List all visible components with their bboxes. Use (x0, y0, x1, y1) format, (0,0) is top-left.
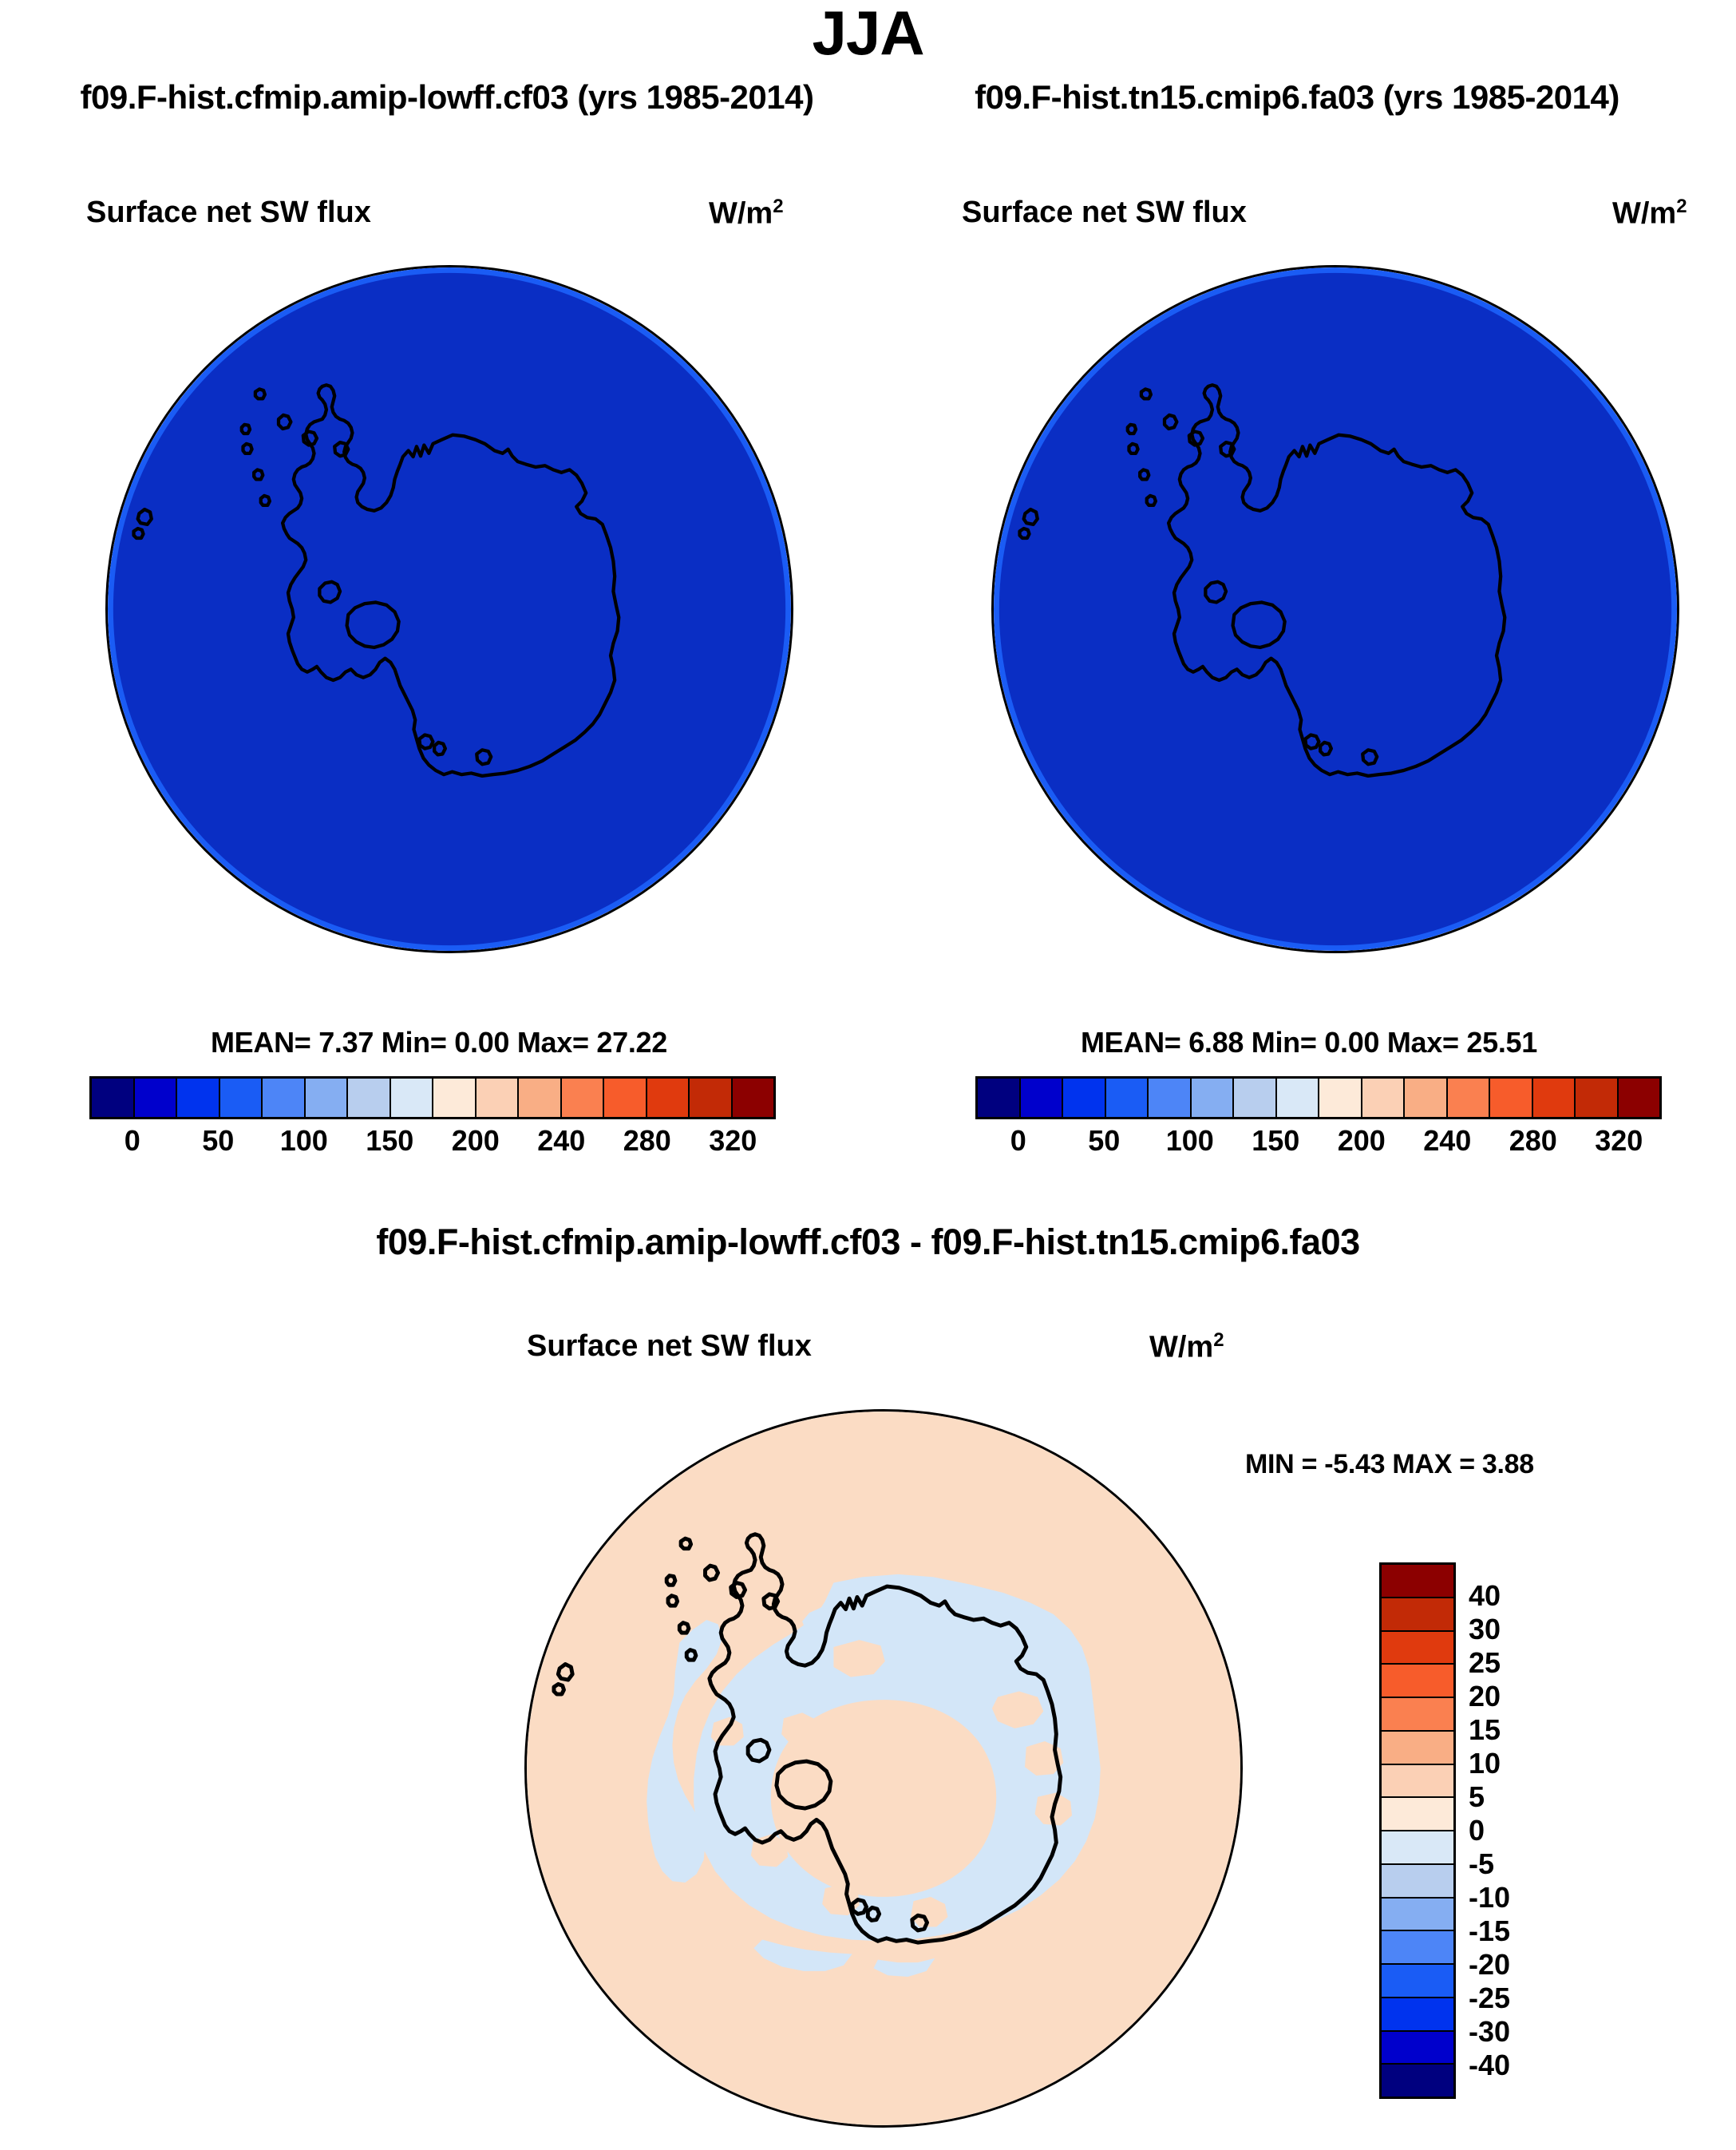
units-label-diff: W/m2 (1149, 1329, 1224, 1365)
colorbar-tick-5: 240 (537, 1124, 585, 1158)
units-text-right: W/m (1612, 197, 1676, 231)
units-exponent-right: 2 (1676, 196, 1687, 217)
colorbar-segment-13 (647, 1079, 690, 1117)
diff-colorbar-tick-9: -10 (1469, 1881, 1510, 1914)
colorbar-segment-6 (1234, 1079, 1277, 1117)
diff-colorbar-tick-3: 20 (1469, 1680, 1501, 1713)
units-exponent-diff: 2 (1213, 1329, 1224, 1351)
colorbar-segment-14 (690, 1079, 733, 1117)
diff-colorbar-segment-2 (1382, 1632, 1453, 1665)
colorbar-segment-0 (978, 1079, 1021, 1117)
colorbar-segment-13 (1533, 1079, 1576, 1117)
colorbar-tick-7: 320 (709, 1124, 757, 1158)
diff-colorbar-tick-8: -5 (1469, 1847, 1494, 1881)
diff-colorbar-segment-1 (1382, 1598, 1453, 1632)
diff-colorbar-tick-5: 10 (1469, 1747, 1501, 1780)
diff-colorbar-segment-3 (1382, 1665, 1453, 1698)
units-label-left: W/m2 (709, 196, 784, 232)
diff-colorbar-tick-1: 30 (1469, 1613, 1501, 1646)
colorbar-segment-14 (1576, 1079, 1619, 1117)
colorbar-segment-7 (391, 1079, 434, 1117)
diff-colorbar-segment-9 (1382, 1865, 1453, 1899)
colorbar-segment-4 (1149, 1079, 1192, 1117)
colorbar-tick-1: 50 (202, 1124, 234, 1158)
colorbar-segment-3 (220, 1079, 263, 1117)
season-title: JJA (0, 2, 1736, 64)
colorbar-tick-2: 100 (280, 1124, 328, 1158)
colorbar-tick-6: 280 (623, 1124, 671, 1158)
diff-colorbar-segment-13 (1382, 1998, 1453, 2032)
polar-map-right (991, 265, 1679, 953)
units-label-right: W/m2 (1612, 196, 1687, 232)
colorbar-segment-9 (477, 1079, 520, 1117)
diff-colorbar-segment-4 (1382, 1698, 1453, 1732)
minmax-label-diff: MIN = -5.43 MAX = 3.88 (1245, 1449, 1534, 1480)
colorbar-tick-5: 240 (1423, 1124, 1471, 1158)
polar-map-left (105, 265, 793, 953)
colorbar-segment-8 (1319, 1079, 1362, 1117)
diff-colorbar-segment-10 (1382, 1899, 1453, 1932)
diff-colorbar-tick-7: 0 (1469, 1814, 1485, 1847)
polar-map-difference (524, 1409, 1243, 2128)
stats-right: MEAN= 6.88 Min= 0.00 Max= 25.51 (886, 1026, 1732, 1059)
diff-colorbar-segment-0 (1382, 1565, 1453, 1598)
colorbar-segment-12 (1490, 1079, 1533, 1117)
colorbar-segment-3 (1106, 1079, 1149, 1117)
colorbar-segment-5 (306, 1079, 349, 1117)
colorbar-segment-11 (1448, 1079, 1491, 1117)
diff-colorbar-tick-4: 15 (1469, 1713, 1501, 1747)
diff-colorbar-tick-2: 25 (1469, 1646, 1501, 1680)
diff-colorbar-tick-11: -20 (1469, 1948, 1510, 1982)
variable-label-right: Surface net SW flux (962, 196, 1247, 230)
colorbar-tick-0: 0 (125, 1124, 140, 1158)
units-text-diff: W/m (1149, 1331, 1213, 1364)
colorbar-segment-1 (1021, 1079, 1064, 1117)
colorbar-segment-15 (733, 1079, 774, 1117)
colorbar-segment-15 (1619, 1079, 1660, 1117)
colorbar-segment-8 (433, 1079, 477, 1117)
colorbar-right (975, 1076, 1662, 1119)
diff-colorbar-segment-8 (1382, 1831, 1453, 1865)
diff-colorbar-segment-15 (1382, 2065, 1453, 2097)
diff-colorbar-segment-7 (1382, 1798, 1453, 1831)
map-fill-right (999, 273, 1671, 945)
variable-label-left: Surface net SW flux (86, 196, 371, 230)
diff-colorbar-segment-11 (1382, 1931, 1453, 1965)
polar-map-left-svg (108, 267, 791, 951)
colorbar-segment-12 (604, 1079, 647, 1117)
colorbar-difference (1379, 1562, 1456, 2099)
diff-colorbar-segment-14 (1382, 2032, 1453, 2065)
diff-colorbar-tick-0: 40 (1469, 1579, 1501, 1613)
colorbar-segment-1 (135, 1079, 178, 1117)
stats-left: MEAN= 7.37 Min= 0.00 Max= 27.22 (0, 1026, 878, 1059)
colorbar-left (89, 1076, 776, 1119)
colorbar-segment-10 (1405, 1079, 1448, 1117)
colorbar-segment-5 (1192, 1079, 1235, 1117)
colorbar-tick-6: 280 (1509, 1124, 1557, 1158)
diff-colorbar-tick-10: -15 (1469, 1914, 1510, 1948)
colorbar-tick-4: 200 (452, 1124, 500, 1158)
colorbar-tick-3: 150 (366, 1124, 413, 1158)
colorbar-tick-1: 50 (1088, 1124, 1120, 1158)
colorbar-ticks-left: 050100150200240280320 (89, 1124, 776, 1161)
colorbar-tick-2: 100 (1166, 1124, 1214, 1158)
colorbar-segment-2 (177, 1079, 220, 1117)
colorbar-tick-0: 0 (1010, 1124, 1026, 1158)
polar-map-difference-svg (527, 1412, 1240, 2125)
diff-colorbar-tick-13: -30 (1469, 2015, 1510, 2049)
units-exponent-left: 2 (773, 196, 783, 217)
units-text-left: W/m (709, 197, 773, 231)
colorbar-tick-7: 320 (1595, 1124, 1643, 1158)
variable-label-diff: Surface net SW flux (527, 1329, 812, 1364)
colorbar-segment-6 (348, 1079, 391, 1117)
colorbar-segment-10 (519, 1079, 562, 1117)
case-title-left: f09.F-hist.cfmip.amip-lowff.cf03 (yrs 19… (0, 78, 894, 117)
diff-colorbar-segment-5 (1382, 1732, 1453, 1765)
colorbar-segment-2 (1063, 1079, 1106, 1117)
diff-colorbar-segment-6 (1382, 1765, 1453, 1799)
colorbar-segment-0 (92, 1079, 135, 1117)
colorbar-tick-4: 200 (1338, 1124, 1386, 1158)
map-fill-left (113, 273, 785, 945)
colorbar-segment-9 (1362, 1079, 1406, 1117)
diff-colorbar-tick-6: 5 (1469, 1780, 1485, 1814)
colorbar-segment-11 (562, 1079, 605, 1117)
diff-colorbar-segment-12 (1382, 1965, 1453, 1998)
difference-case-title: f09.F-hist.cfmip.amip-lowff.cf03 - f09.F… (0, 1222, 1736, 1263)
diff-colorbar-tick-12: -25 (1469, 1982, 1510, 2015)
diff-colorbar-tick-14: -40 (1469, 2049, 1510, 2082)
colorbar-segment-4 (263, 1079, 306, 1117)
colorbar-difference-ticks: 40302520151050-5-10-15-20-25-30-40 (1469, 1562, 1580, 2099)
case-title-right: f09.F-hist.tn15.cmip6.fa03 (yrs 1985-201… (858, 78, 1736, 117)
colorbar-tick-3: 150 (1252, 1124, 1299, 1158)
colorbar-ticks-right: 050100150200240280320 (975, 1124, 1662, 1161)
polar-map-right-svg (994, 267, 1677, 951)
colorbar-segment-7 (1277, 1079, 1320, 1117)
